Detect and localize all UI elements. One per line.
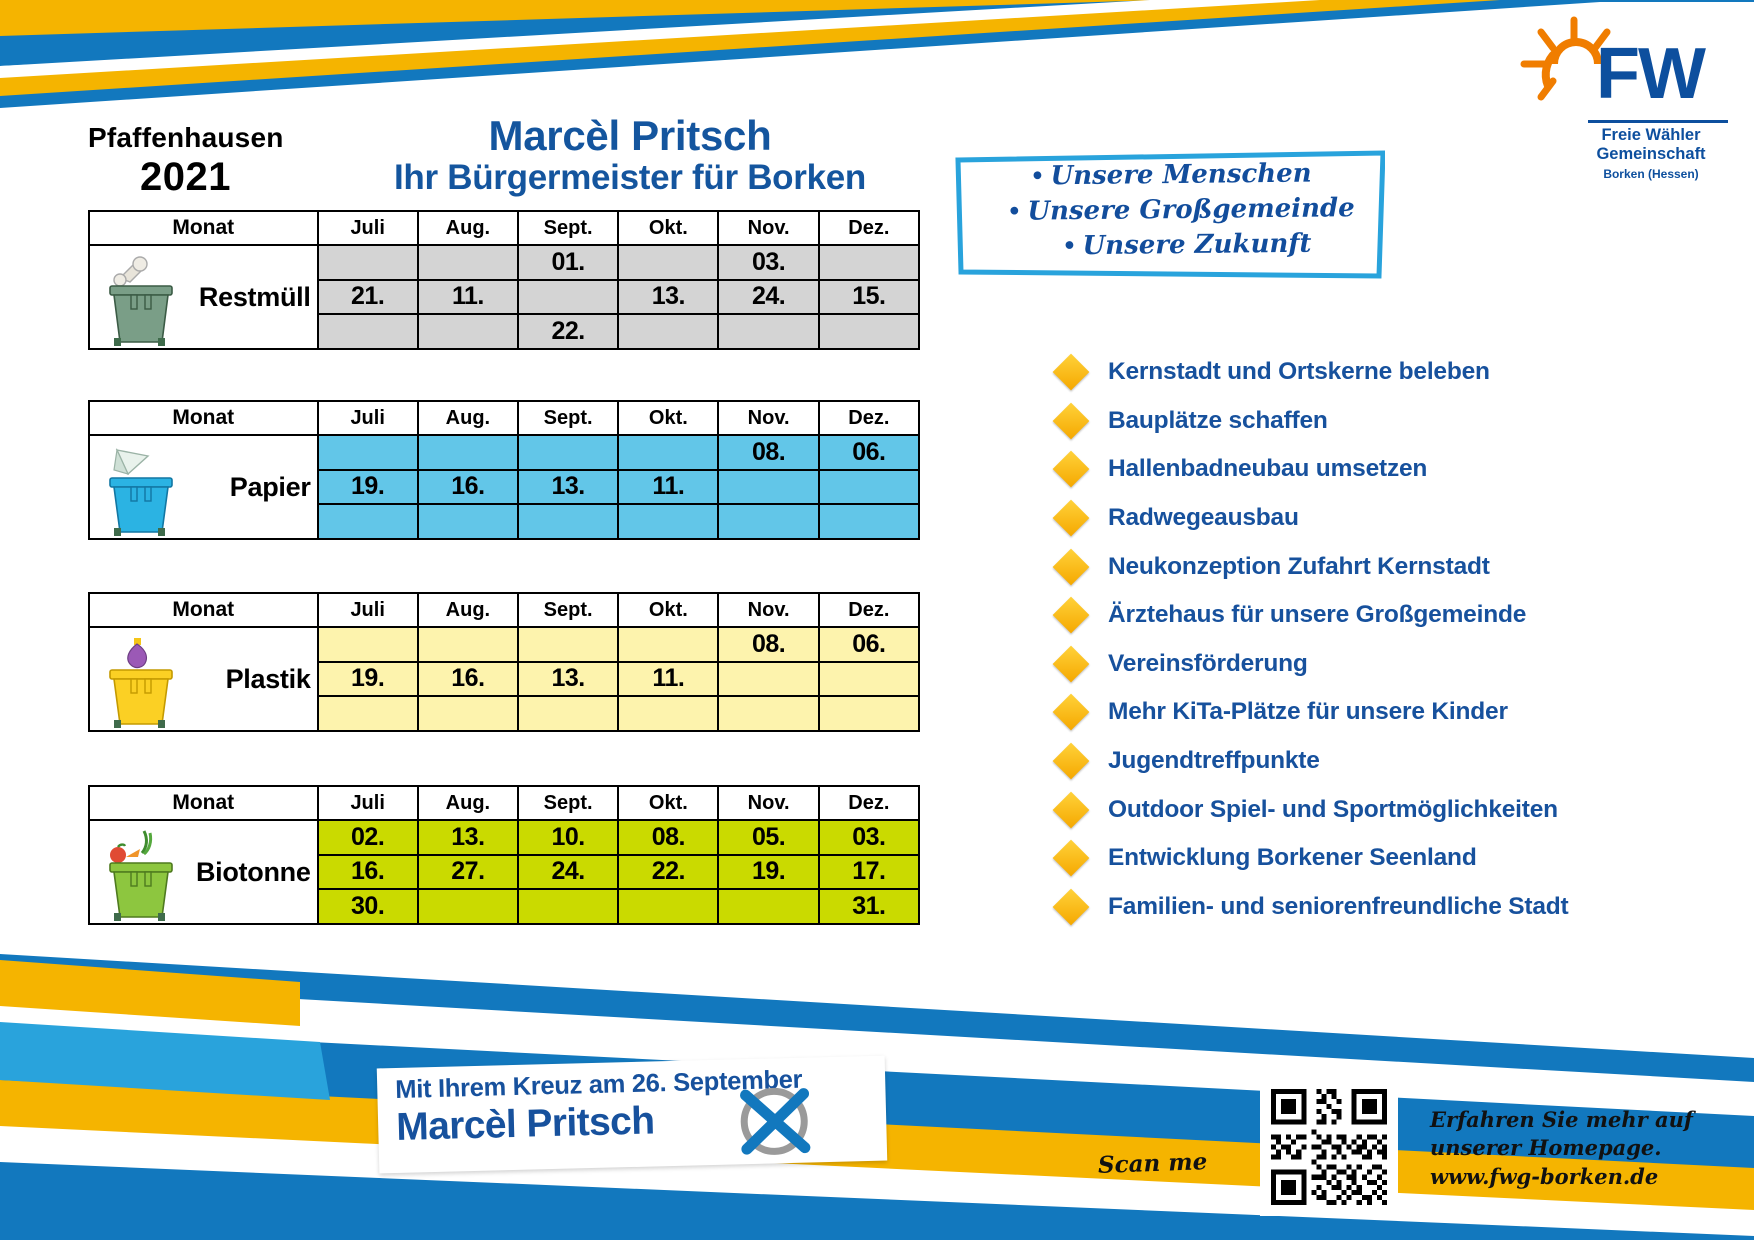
diamond-bullet-icon — [1053, 597, 1090, 634]
qr-code-graphic — [1266, 1084, 1392, 1210]
date-cell: 19. — [318, 662, 418, 697]
date-cell — [318, 245, 418, 280]
col-header-month: Nov. — [718, 786, 818, 820]
waste-type-label: Restmüll — [199, 282, 311, 313]
goal-item: Kernstadt und Ortskerne beleben — [1058, 348, 1718, 397]
date-cell — [418, 245, 518, 280]
bullet-dot-icon: • — [1007, 199, 1021, 225]
date-cell — [819, 314, 919, 349]
col-header-monat: Monat — [89, 401, 318, 435]
date-cell — [318, 314, 418, 349]
date-cell — [418, 314, 518, 349]
papier-bin-icon — [100, 440, 205, 536]
bullet-dot-icon: • — [1030, 163, 1044, 189]
waste-type-cell: Plastik — [89, 627, 318, 731]
date-cell: 11. — [418, 280, 518, 315]
col-header-month: Dez. — [819, 786, 919, 820]
goal-label: Neukonzeption Zufahrt Kernstadt — [1108, 553, 1490, 581]
col-header-month: Dez. — [819, 401, 919, 435]
col-header-month: Dez. — [819, 593, 919, 627]
date-cell — [518, 889, 618, 924]
date-cell — [418, 504, 518, 539]
col-header-month: Aug. — [418, 401, 518, 435]
goal-label: Ärztehaus für unsere Großgemeinde — [1108, 601, 1526, 629]
logo-location: Borken (Hessen) — [1566, 167, 1736, 181]
date-cell — [618, 504, 718, 539]
col-header-month: Juli — [318, 786, 418, 820]
goal-label: Jugendtreffpunkte — [1108, 747, 1320, 775]
date-cell: 10. — [518, 820, 618, 855]
slogan-item-1: •Unsere Menschen — [971, 156, 1371, 195]
table-row: Biotonne 02. 13. 10. 08. 05. 03. — [89, 820, 919, 855]
restmuell-bin-icon — [100, 250, 205, 346]
date-cell: 16. — [418, 662, 518, 697]
table-header-row: Monat Juli Aug. Sept. Okt. Nov. Dez. — [89, 401, 919, 435]
goal-item: Entwicklung Borkener Seenland — [1058, 834, 1718, 883]
date-cell — [718, 662, 818, 697]
candidate-role: Ihr Bürgermeister für Borken — [300, 158, 960, 198]
goal-item: Ärztehaus für unsere Großgemeinde — [1058, 591, 1718, 640]
diamond-bullet-icon — [1053, 694, 1090, 731]
goal-label: Radwegeausbau — [1108, 504, 1299, 532]
date-cell: 03. — [819, 820, 919, 855]
slogan-item-2: •Unsere Großgemeinde — [981, 191, 1381, 230]
goal-label: Hallenbadneubau umsetzen — [1108, 455, 1427, 483]
homepage-line2: unserer Homepage. — [1430, 1134, 1720, 1162]
date-cell — [318, 504, 418, 539]
waste-table-biotonne: Monat Juli Aug. Sept. Okt. Nov. Dez. — [88, 785, 920, 925]
slogan-text-2: Unsere Großgemeinde — [1027, 193, 1355, 226]
diamond-bullet-icon — [1053, 500, 1090, 537]
goal-item: Familien- und seniorenfreundliche Stadt — [1058, 883, 1718, 932]
slogan-text-1: Unsere Menschen — [1050, 159, 1311, 192]
vote-banner: Mit Ihrem Kreuz am 26. September Marcèl … — [377, 1056, 887, 1174]
goal-label: Mehr KiTa-Plätze für unsere Kinder — [1108, 698, 1508, 726]
waste-table-papier: Monat Juli Aug. Sept. Okt. Nov. Dez. — [88, 400, 920, 540]
date-cell: 02. — [318, 820, 418, 855]
date-cell: 13. — [518, 470, 618, 505]
date-cell: 24. — [718, 280, 818, 315]
date-cell — [819, 470, 919, 505]
date-cell: 13. — [618, 280, 718, 315]
scan-me-label: Scan me — [1098, 1148, 1208, 1179]
date-cell: 21. — [318, 280, 418, 315]
col-header-month: Aug. — [418, 786, 518, 820]
date-cell — [819, 504, 919, 539]
goal-label: Bauplätze schaffen — [1108, 407, 1328, 435]
waste-type-label: Plastik — [226, 664, 311, 695]
date-cell: 15. — [819, 280, 919, 315]
date-cell — [618, 889, 718, 924]
year-label: 2021 — [140, 155, 231, 200]
date-cell: 19. — [718, 855, 818, 890]
date-cell — [618, 696, 718, 731]
date-cell — [718, 504, 818, 539]
date-cell: 11. — [618, 662, 718, 697]
waste-type-label: Biotonne — [196, 857, 311, 888]
biotonne-bin-icon — [100, 825, 205, 921]
date-cell — [618, 245, 718, 280]
date-cell: 22. — [518, 314, 618, 349]
diamond-bullet-icon — [1053, 645, 1090, 682]
date-cell: 08. — [718, 627, 818, 662]
place-name: Pfaffenhausen — [88, 122, 284, 154]
date-cell: 22. — [618, 855, 718, 890]
goals-list: Kernstadt und Ortskerne beleben Bauplätz… — [1058, 348, 1718, 931]
date-cell: 08. — [718, 435, 818, 470]
col-header-month: Okt. — [618, 401, 718, 435]
logo-subtitle-line2: Gemeinschaft — [1566, 145, 1736, 164]
date-cell — [518, 696, 618, 731]
col-header-month: Nov. — [718, 211, 818, 245]
col-header-month: Aug. — [418, 211, 518, 245]
date-cell: 06. — [819, 435, 919, 470]
goal-label: Familien- und seniorenfreundliche Stadt — [1108, 893, 1568, 921]
slogan-list: •Unsere Menschen •Unsere Großgemeinde •U… — [975, 158, 1375, 263]
table-header-row: Monat Juli Aug. Sept. Okt. Nov. Dez. — [89, 786, 919, 820]
date-cell — [418, 627, 518, 662]
goal-label: Kernstadt und Ortskerne beleben — [1108, 358, 1490, 386]
col-header-month: Sept. — [518, 593, 618, 627]
decoration-bottom-left-wedge — [0, 930, 420, 1240]
date-cell — [819, 662, 919, 697]
goal-item: Neukonzeption Zufahrt Kernstadt — [1058, 542, 1718, 591]
date-cell: 30. — [318, 889, 418, 924]
logo-mark: FW — [1596, 38, 1704, 110]
table-header-row: Monat Juli Aug. Sept. Okt. Nov. Dez. — [89, 593, 919, 627]
date-cell: 05. — [718, 820, 818, 855]
table-row: Papier 08. 06. — [89, 435, 919, 470]
date-cell — [518, 504, 618, 539]
waste-type-cell: Biotonne — [89, 820, 318, 924]
col-header-month: Nov. — [718, 593, 818, 627]
date-cell — [718, 470, 818, 505]
date-cell — [418, 889, 518, 924]
date-cell: 17. — [819, 855, 919, 890]
col-header-monat: Monat — [89, 593, 318, 627]
col-header-month: Aug. — [418, 593, 518, 627]
logo-subtitle-line1: Freie Wähler — [1566, 126, 1736, 145]
goal-label: Vereinsförderung — [1108, 650, 1308, 678]
slogan-item-3: •Unsere Zukunft — [987, 226, 1387, 265]
date-cell — [618, 314, 718, 349]
slogan-box: •Unsere Menschen •Unsere Großgemeinde •U… — [955, 150, 1385, 280]
col-header-month: Juli — [318, 593, 418, 627]
diamond-bullet-icon — [1053, 403, 1090, 440]
bullet-dot-icon: • — [1062, 234, 1076, 260]
goal-item: Radwegeausbau — [1058, 494, 1718, 543]
table-row: Restmüll 01. 03. — [89, 245, 919, 280]
date-cell — [618, 627, 718, 662]
col-header-month: Okt. — [618, 211, 718, 245]
date-cell: 13. — [518, 662, 618, 697]
date-cell: 16. — [418, 470, 518, 505]
goal-label: Entwicklung Borkener Seenland — [1108, 844, 1477, 872]
slogan-text-3: Unsere Zukunft — [1082, 229, 1311, 261]
waste-table-plastik: Monat Juli Aug. Sept. Okt. Nov. Dez. — [88, 592, 920, 732]
date-cell: 13. — [418, 820, 518, 855]
goal-label: Outdoor Spiel- und Sportmöglichkeiten — [1108, 796, 1558, 824]
date-cell — [518, 435, 618, 470]
col-header-month: Nov. — [718, 401, 818, 435]
fw-logo: FW Freie Wähler Gemeinschaft Borken (Hes… — [1506, 8, 1736, 193]
col-header-month: Sept. — [518, 786, 618, 820]
diamond-bullet-icon — [1053, 888, 1090, 925]
date-cell: 08. — [618, 820, 718, 855]
logo-subtitle: Freie Wähler Gemeinschaft Borken (Hessen… — [1566, 126, 1736, 181]
qr-code[interactable] — [1260, 1078, 1398, 1216]
date-cell — [518, 627, 618, 662]
plastik-bin-icon — [100, 632, 205, 728]
diamond-bullet-icon — [1053, 791, 1090, 828]
homepage-line1: Erfahren Sie mehr auf — [1430, 1106, 1720, 1134]
date-cell — [718, 889, 818, 924]
diamond-bullet-icon — [1053, 840, 1090, 877]
goal-item: Bauplätze schaffen — [1058, 397, 1718, 446]
diamond-bullet-icon — [1053, 548, 1090, 585]
date-cell — [318, 627, 418, 662]
date-cell: 06. — [819, 627, 919, 662]
candidate-name: Marcèl Pritsch — [330, 112, 930, 160]
table-row: Plastik 08. 06. — [89, 627, 919, 662]
col-header-month: Juli — [318, 211, 418, 245]
decoration-top-left — [0, 0, 1754, 130]
homepage-url[interactable]: www.fwg-borken.de — [1430, 1163, 1720, 1191]
date-cell — [718, 314, 818, 349]
flyer-page: FW Freie Wähler Gemeinschaft Borken (Hes… — [0, 0, 1754, 1240]
vote-candidate-name: Marcèl Pritsch — [396, 1099, 655, 1150]
waste-table-restmuell: Monat Juli Aug. Sept. Okt. Nov. Dez. — [88, 210, 920, 350]
date-cell: 31. — [819, 889, 919, 924]
date-cell — [518, 280, 618, 315]
waste-type-label: Papier — [230, 472, 311, 503]
diamond-bullet-icon — [1053, 743, 1090, 780]
date-cell — [318, 435, 418, 470]
homepage-info: Erfahren Sie mehr auf unserer Homepage. … — [1430, 1106, 1720, 1191]
date-cell — [418, 696, 518, 731]
col-header-month: Sept. — [518, 401, 618, 435]
date-cell: 19. — [318, 470, 418, 505]
waste-type-cell: Papier — [89, 435, 318, 539]
diamond-bullet-icon — [1053, 451, 1090, 488]
col-header-month: Okt. — [618, 786, 718, 820]
date-cell — [618, 435, 718, 470]
date-cell — [418, 435, 518, 470]
goal-item: Hallenbadneubau umsetzen — [1058, 445, 1718, 494]
logo-rule — [1588, 120, 1728, 123]
goal-item: Outdoor Spiel- und Sportmöglichkeiten — [1058, 785, 1718, 834]
table-header-row: Monat Juli Aug. Sept. Okt. Nov. Dez. — [89, 211, 919, 245]
col-header-monat: Monat — [89, 786, 318, 820]
date-cell: 27. — [418, 855, 518, 890]
col-header-month: Dez. — [819, 211, 919, 245]
date-cell: 03. — [718, 245, 818, 280]
date-cell: 11. — [618, 470, 718, 505]
col-header-monat: Monat — [89, 211, 318, 245]
date-cell: 24. — [518, 855, 618, 890]
date-cell — [819, 245, 919, 280]
diamond-bullet-icon — [1053, 354, 1090, 391]
date-cell: 16. — [318, 855, 418, 890]
date-cell — [819, 696, 919, 731]
col-header-month: Sept. — [518, 211, 618, 245]
date-cell: 01. — [518, 245, 618, 280]
col-header-month: Okt. — [618, 593, 718, 627]
date-cell — [718, 696, 818, 731]
goal-item: Vereinsförderung — [1058, 640, 1718, 689]
goal-item: Jugendtreffpunkte — [1058, 737, 1718, 786]
goal-item: Mehr KiTa-Plätze für unsere Kinder — [1058, 688, 1718, 737]
waste-type-cell: Restmüll — [89, 245, 318, 349]
ballot-cross-icon — [727, 1085, 821, 1157]
col-header-month: Juli — [318, 401, 418, 435]
date-cell — [318, 696, 418, 731]
